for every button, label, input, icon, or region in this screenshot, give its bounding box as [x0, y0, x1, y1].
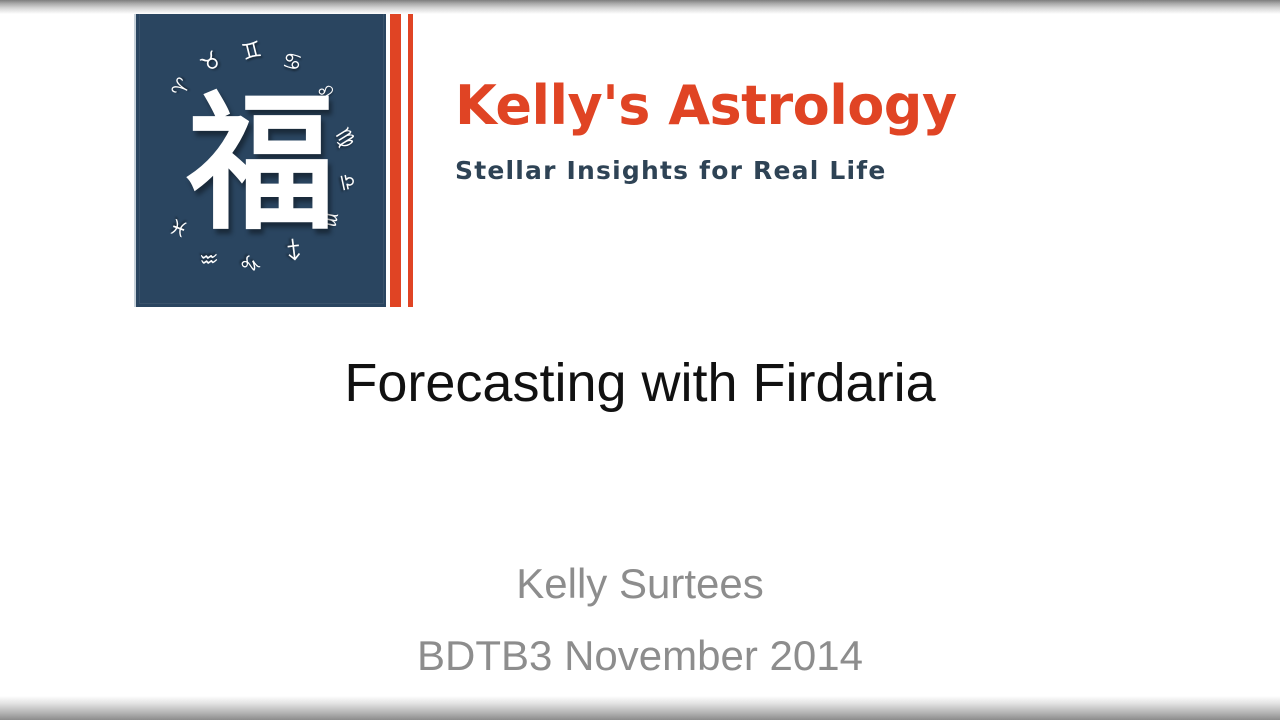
slide-title: Forecasting with Firdaria — [0, 352, 1280, 414]
cancer-glyph-icon: ♋ — [280, 51, 304, 77]
logo-mark: ♈♉♊♋♌♍♎♏♐♑♒♓ 福 — [134, 10, 386, 307]
fu-prosperity-character: 福 — [187, 90, 335, 238]
gemini-glyph-icon: ♊ — [240, 39, 264, 65]
presentation-slide: ♈♉♊♋♌♍♎♏♐♑♒♓ 福 Kelly's Astrology Stellar… — [0, 0, 1280, 720]
brand-logo-lockup: ♈♉♊♋♌♍♎♏♐♑♒♓ 福 — [134, 10, 424, 307]
accent-stripe-thin — [408, 10, 413, 307]
brand-name: Kelly's Astrology — [455, 78, 1055, 135]
libra-glyph-icon: ♎ — [336, 171, 359, 193]
virgo-glyph-icon: ♍ — [331, 124, 359, 151]
letterbox-bottom-edge — [0, 696, 1280, 720]
capricorn-glyph-icon: ♑ — [236, 248, 264, 277]
event-and-date: BDTB3 November 2014 — [0, 635, 1280, 677]
brand-tagline: Stellar Insights for Real Life — [455, 157, 1055, 185]
brand-text-block: Kelly's Astrology Stellar Insights for R… — [455, 78, 1055, 184]
taurus-glyph-icon: ♉ — [197, 49, 226, 78]
letterbox-top-edge — [0, 0, 1280, 14]
presenter-name: Kelly Surtees — [0, 563, 1280, 605]
byline-block: Kelly Surtees BDTB3 November 2014 — [0, 563, 1280, 677]
accent-stripe-wide — [390, 10, 401, 307]
